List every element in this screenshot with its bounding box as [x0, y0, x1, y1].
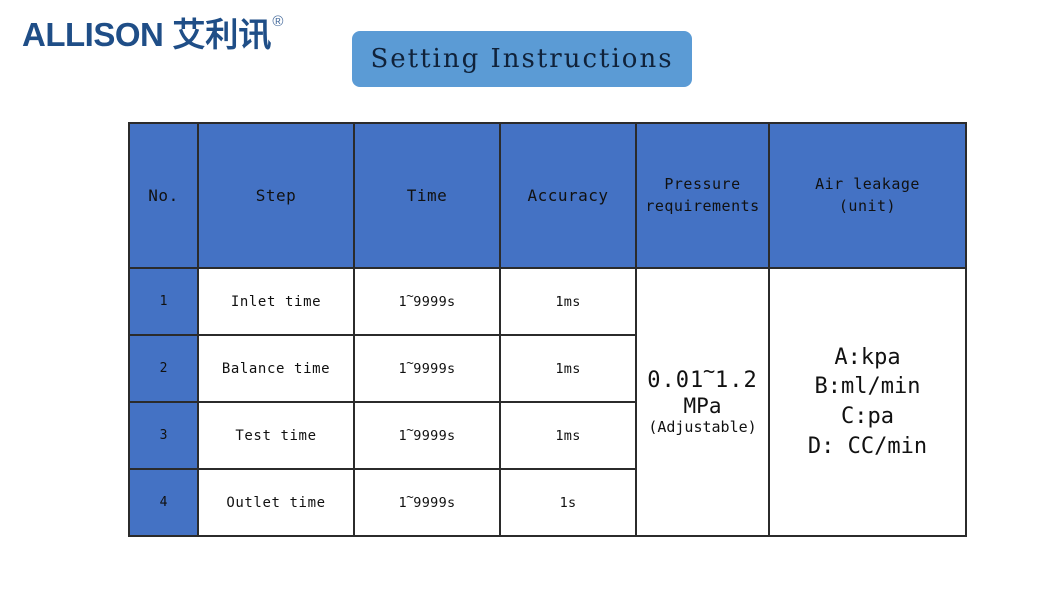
leakage-unit-b: B:ml/min	[770, 372, 965, 402]
table-header-row: No. Step Time Accuracy Pressure requirem…	[129, 123, 966, 268]
row-time-4: 1~9999s	[354, 469, 500, 536]
column-header-leakage-line1: Air leakage	[815, 175, 920, 193]
logo-wordmark: ALLISON	[22, 18, 163, 51]
row-step-4: Outlet time	[198, 469, 354, 536]
row-step-3: Test time	[198, 402, 354, 469]
row-number-2: 2	[129, 335, 198, 402]
pressure-min: 0.01	[647, 368, 704, 393]
column-header-step: Step	[198, 123, 354, 268]
row-number-3: 3	[129, 402, 198, 469]
row-number-1: 1	[129, 268, 198, 335]
leakage-unit-d: D: CC/min	[770, 432, 965, 462]
pressure-requirement-value: 0.01~1.2 MPa (Adjustable)	[636, 268, 769, 536]
row-time-1-post: 9999s	[413, 294, 455, 310]
page-title: Setting Instructions	[370, 44, 673, 74]
row-time-2-post: 9999s	[413, 361, 455, 377]
column-header-pressure-line1: Pressure	[664, 175, 740, 193]
column-header-pressure-requirements: Pressure requirements	[636, 123, 769, 268]
column-header-air-leakage: Air leakage (unit)	[769, 123, 966, 268]
row-step-2: Balance time	[198, 335, 354, 402]
leakage-unit-c: C:pa	[770, 402, 965, 432]
row-step-1: Inlet time	[198, 268, 354, 335]
column-header-pressure-line2: requirements	[645, 197, 759, 215]
pressure-adjustable-note: (Adjustable)	[637, 419, 768, 437]
row-accuracy-4: 1s	[500, 469, 636, 536]
row-time-2: 1~9999s	[354, 335, 500, 402]
column-header-leakage-line2: (unit)	[839, 197, 896, 215]
row-accuracy-2: 1ms	[500, 335, 636, 402]
registered-trademark-icon: ®	[272, 14, 283, 29]
column-header-time: Time	[354, 123, 500, 268]
pressure-range-line: 0.01~1.2	[637, 368, 768, 394]
row-time-3: 1~9999s	[354, 402, 500, 469]
table-row: 1 Inlet time 1~9999s 1ms 0.01~1.2 MPa (A…	[129, 268, 966, 335]
page-title-banner: Setting Instructions	[352, 31, 692, 87]
row-time-3-post: 9999s	[413, 428, 455, 444]
logo-chinese-name: 艾利讯	[172, 18, 271, 51]
pressure-unit: MPa	[637, 394, 768, 419]
row-accuracy-1: 1ms	[500, 268, 636, 335]
pressure-max: 1.2	[715, 368, 758, 393]
column-header-accuracy: Accuracy	[500, 123, 636, 268]
leakage-unit-a: A:kpa	[770, 343, 965, 373]
row-time-4-post: 9999s	[413, 495, 455, 511]
column-header-no: No.	[129, 123, 198, 268]
row-accuracy-3: 1ms	[500, 402, 636, 469]
settings-specification-table: No. Step Time Accuracy Pressure requirem…	[128, 122, 967, 537]
company-logo: ALLISON 艾利讯 ®	[22, 18, 283, 51]
row-time-1: 1~9999s	[354, 268, 500, 335]
air-leakage-units-value: A:kpa B:ml/min C:pa D: CC/min	[769, 268, 966, 536]
row-number-4: 4	[129, 469, 198, 536]
